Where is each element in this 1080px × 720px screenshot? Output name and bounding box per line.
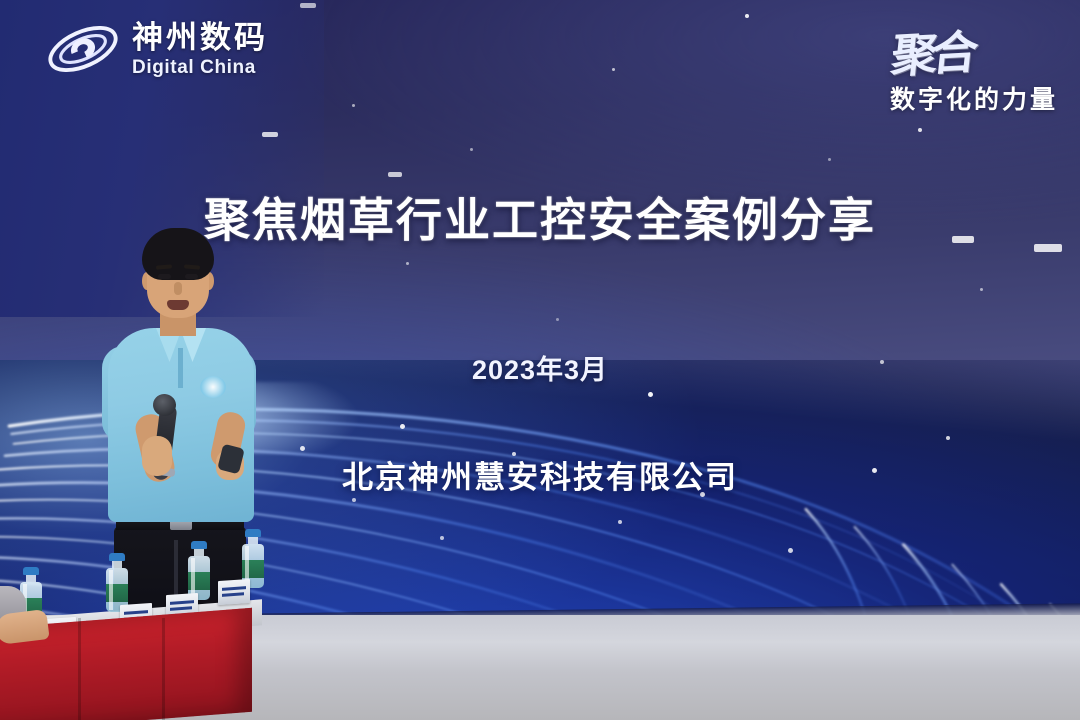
bottle-highlight bbox=[191, 558, 195, 598]
water-bottle bbox=[188, 541, 210, 600]
shirt-placket bbox=[178, 348, 183, 388]
speaker-eye-right bbox=[185, 274, 198, 279]
bottle-neck bbox=[248, 537, 258, 544]
speaker-eye-left bbox=[158, 274, 171, 279]
name-card bbox=[218, 579, 250, 605]
bottle-cap bbox=[245, 529, 261, 537]
bottle-neck bbox=[194, 549, 204, 556]
bottle-cap bbox=[191, 541, 207, 549]
event-tagline: 数字化的力量 bbox=[890, 80, 1058, 116]
cloth-fold bbox=[162, 618, 165, 720]
foreground-hand bbox=[0, 609, 50, 645]
brand-name-cn: 神州数码 bbox=[132, 22, 268, 53]
digital-china-wordmark: 神州数码 Digital China bbox=[132, 22, 268, 77]
bottle-cap bbox=[109, 553, 125, 561]
speaker-nose bbox=[174, 282, 182, 295]
brand-name-en: Digital China bbox=[132, 58, 268, 77]
event-logo: 聚合 数字化的力量 bbox=[890, 18, 1058, 116]
speaker-left-hand bbox=[142, 436, 172, 476]
water-bottle bbox=[106, 553, 128, 612]
cloth-fold bbox=[78, 618, 81, 720]
front-row-table bbox=[0, 562, 290, 720]
shirt-logo-badge bbox=[200, 376, 226, 398]
stage-photo: 神州数码 Digital China 聚合 数字化的力量 聚焦烟草行业工控安全案… bbox=[0, 0, 1080, 720]
particle-dash bbox=[262, 132, 278, 137]
bottle-neck bbox=[26, 575, 36, 582]
event-calligraphy: 聚合 bbox=[888, 16, 976, 86]
particle-dash bbox=[388, 172, 402, 177]
speaker-mouth bbox=[167, 300, 189, 310]
bottle-neck bbox=[112, 561, 122, 568]
digital-china-swirl-icon bbox=[44, 18, 122, 80]
bottle-highlight bbox=[109, 570, 113, 610]
bottle-cap bbox=[23, 567, 39, 575]
speaker-hair bbox=[142, 228, 214, 280]
particle-dash bbox=[300, 3, 316, 8]
digital-china-logo: 神州数码 Digital China bbox=[44, 18, 268, 80]
